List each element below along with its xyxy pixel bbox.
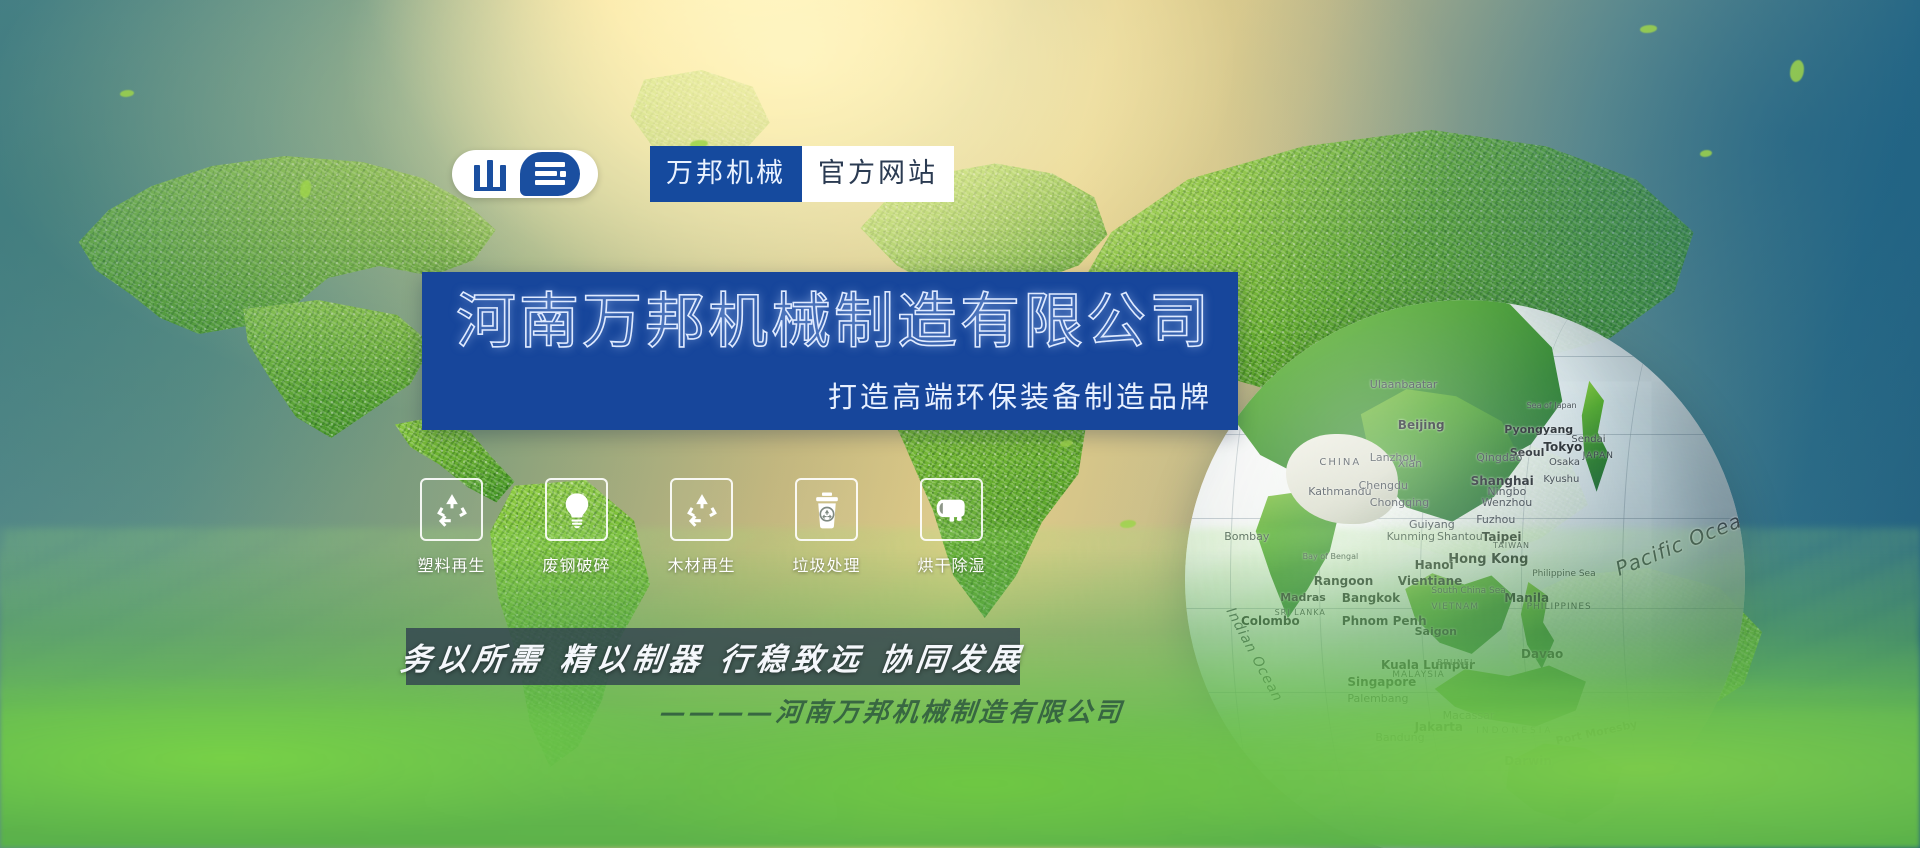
service-item-wood-recycling[interactable]: 木材再生 — [670, 478, 733, 576]
globe-label-sendai: Sendai — [1571, 434, 1605, 445]
recycle-icon — [670, 478, 733, 541]
tab-company-name[interactable]: 万邦机械 — [650, 146, 802, 202]
globe-label-osaka: Osaka — [1549, 457, 1580, 468]
lightbulb-icon — [545, 478, 608, 541]
hero-banner-stage: Pacific Ocean Indian Ocean Beijing Shang… — [0, 0, 1920, 848]
service-label: 木材再生 — [668, 552, 736, 576]
slogan-band: 务以所需 精以制器 行稳致远 协同发展 — [406, 628, 1020, 685]
service-icon-row: 塑料再生 废钢破碎 木材再生 — [420, 478, 983, 576]
service-label: 垃圾处理 — [793, 552, 861, 576]
globe-label-beijing: Beijing — [1398, 418, 1445, 432]
service-label: 废钢破碎 — [543, 552, 611, 576]
logo-w-icon — [470, 157, 516, 191]
dryer-icon — [920, 478, 983, 541]
globe-label-chengdu: Chengdu — [1359, 479, 1408, 492]
globe-label-pyongyang: Pyongyang — [1504, 423, 1573, 436]
service-item-drying-dehumidifying[interactable]: 烘干除湿 — [920, 478, 983, 576]
globe-label-kyushu: Kyushu — [1543, 474, 1579, 485]
logo-b-speech-bubble-icon — [520, 152, 580, 196]
service-label: 烘干除湿 — [918, 552, 986, 576]
globe-label-chongqing: Chongqing — [1370, 496, 1429, 509]
slogan-credit: ————河南万邦机械制造有限公司 — [658, 692, 1182, 729]
globe-label-ulaanbaatar: Ulaanbaatar — [1370, 378, 1438, 391]
tab-official-site[interactable]: 官方网站 — [802, 146, 954, 202]
globe-label-sea-japan: Sea of Japan — [1527, 401, 1577, 410]
brand-logo[interactable] — [452, 150, 598, 198]
globe-label-qingdao: Qingdao — [1476, 451, 1522, 464]
trash-bin-icon — [795, 478, 858, 541]
service-item-scrap-steel-crushing[interactable]: 废钢破碎 — [545, 478, 608, 576]
hero-title-banner: 河南万邦机械制造有限公司 打造高端环保装备制造品牌 — [422, 272, 1238, 430]
globe-label-country-japan: JAPAN — [1583, 451, 1614, 461]
recycle-icon — [420, 478, 483, 541]
globe-label-country-china: CHINA — [1319, 457, 1361, 468]
service-item-plastic-recycling[interactable]: 塑料再生 — [420, 478, 483, 576]
globe-label-fuzhou: Fuzhou — [1476, 513, 1515, 526]
company-subtitle: 打造高端环保装备制造品牌 — [828, 374, 1212, 416]
globe-label-ningbo: Ningbo — [1487, 485, 1526, 498]
service-label: 塑料再生 — [418, 552, 486, 576]
service-item-waste-treatment[interactable]: 垃圾处理 — [795, 478, 858, 576]
company-title: 河南万邦机械制造有限公司 — [456, 290, 1212, 355]
brand-tab-group: 万邦机械 官方网站 — [650, 146, 954, 202]
slogan-text: 务以所需 精以制器 行稳致远 协同发展 — [399, 634, 1028, 679]
globe-label-lanzhou: Lanzhou — [1370, 451, 1416, 464]
